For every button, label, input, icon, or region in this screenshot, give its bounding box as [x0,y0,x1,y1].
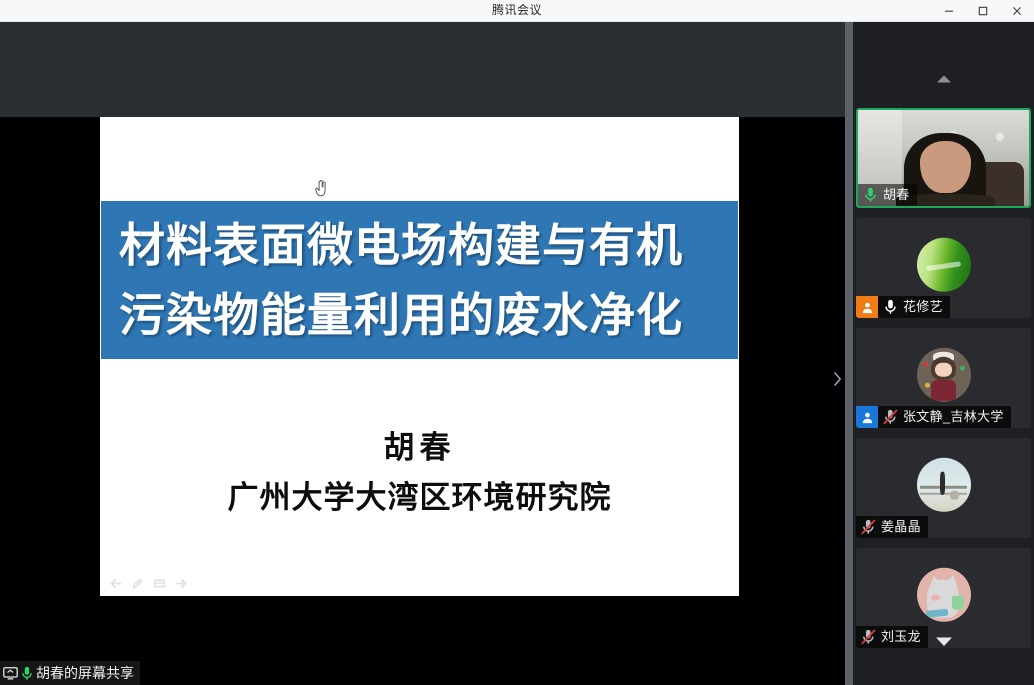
microphone-on-icon [20,665,34,681]
presentation-slide: 材料表面微电场构建与有机 污染物能量利用的废水净化 胡春 广州大学大湾区环境研究… [100,117,739,596]
chevron-up-icon[interactable] [853,66,1034,92]
microphone-on-icon [860,184,880,206]
screen-share-banner: 胡春的屏幕共享 [0,661,140,685]
tencent-meeting-window: 腾讯会议 材料表面微电场构建与有机 污染物能量利用的废水净化 胡春 广州大学大湾… [0,0,1034,685]
slideshow-prev-icon[interactable] [108,576,122,590]
slide-presenter-name: 胡春 [100,422,739,467]
participant-tile[interactable]: 姜晶晶 [856,438,1031,538]
slide-title-line-2: 污染物能量利用的废水净化 [119,280,720,350]
host-badge-icon [856,296,878,318]
close-button[interactable] [1000,0,1034,21]
participant-footer: 胡春 [858,184,917,206]
avatar [917,348,971,402]
microphone-muted-icon [858,516,878,538]
screen-share-icon [2,665,18,681]
participant-name: 张文静_吉林大学 [900,406,1004,428]
participant-name: 花修艺 [900,296,943,318]
avatar [917,238,971,292]
slide-title-line-1: 材料表面微电场构建与有机 [119,210,720,280]
shared-screen-area[interactable]: 材料表面微电场构建与有机 污染物能量利用的废水净化 胡春 广州大学大湾区环境研究… [0,22,845,685]
participant-footer: 姜晶晶 [856,516,928,538]
participant-footer: 张文静_吉林大学 [856,406,1011,428]
slideshow-menu-icon[interactable] [152,576,166,590]
slideshow-controls[interactable] [108,576,188,590]
participant-name: 姜晶晶 [878,516,921,538]
window-controls [932,0,1034,21]
participant-roster[interactable]: 胡春 花修艺 [853,22,1034,685]
microphone-muted-icon [880,406,900,428]
chevron-right-icon[interactable] [829,368,845,390]
slideshow-next-icon[interactable] [174,576,188,590]
panel-divider[interactable] [845,22,853,685]
avatar [917,568,971,622]
microphone-on-icon [880,296,900,318]
slide-title-banner: 材料表面微电场构建与有机 污染物能量利用的废水净化 [101,201,738,359]
slideshow-pen-icon[interactable] [130,576,144,590]
minimize-button[interactable] [932,0,966,21]
participant-name: 胡春 [880,184,910,206]
cohost-badge-icon [856,406,878,428]
shared-screen-top-band [0,22,845,117]
screen-share-label: 胡春的屏幕共享 [36,661,134,685]
participant-tile[interactable]: 胡春 [856,108,1031,208]
slide-affiliation: 广州大学大湾区环境研究院 [100,472,739,517]
avatar [917,458,971,512]
participant-tile[interactable]: 花修艺 [856,218,1031,318]
title-bar: 腾讯会议 [0,0,1034,22]
maximize-button[interactable] [966,0,1000,21]
participant-footer: 花修艺 [856,296,950,318]
participant-tile[interactable]: 张文静_吉林大学 [856,328,1031,428]
window-title: 腾讯会议 [0,0,1034,21]
hand-pointer-cursor [315,180,329,198]
chevron-down-icon[interactable] [853,628,1034,654]
